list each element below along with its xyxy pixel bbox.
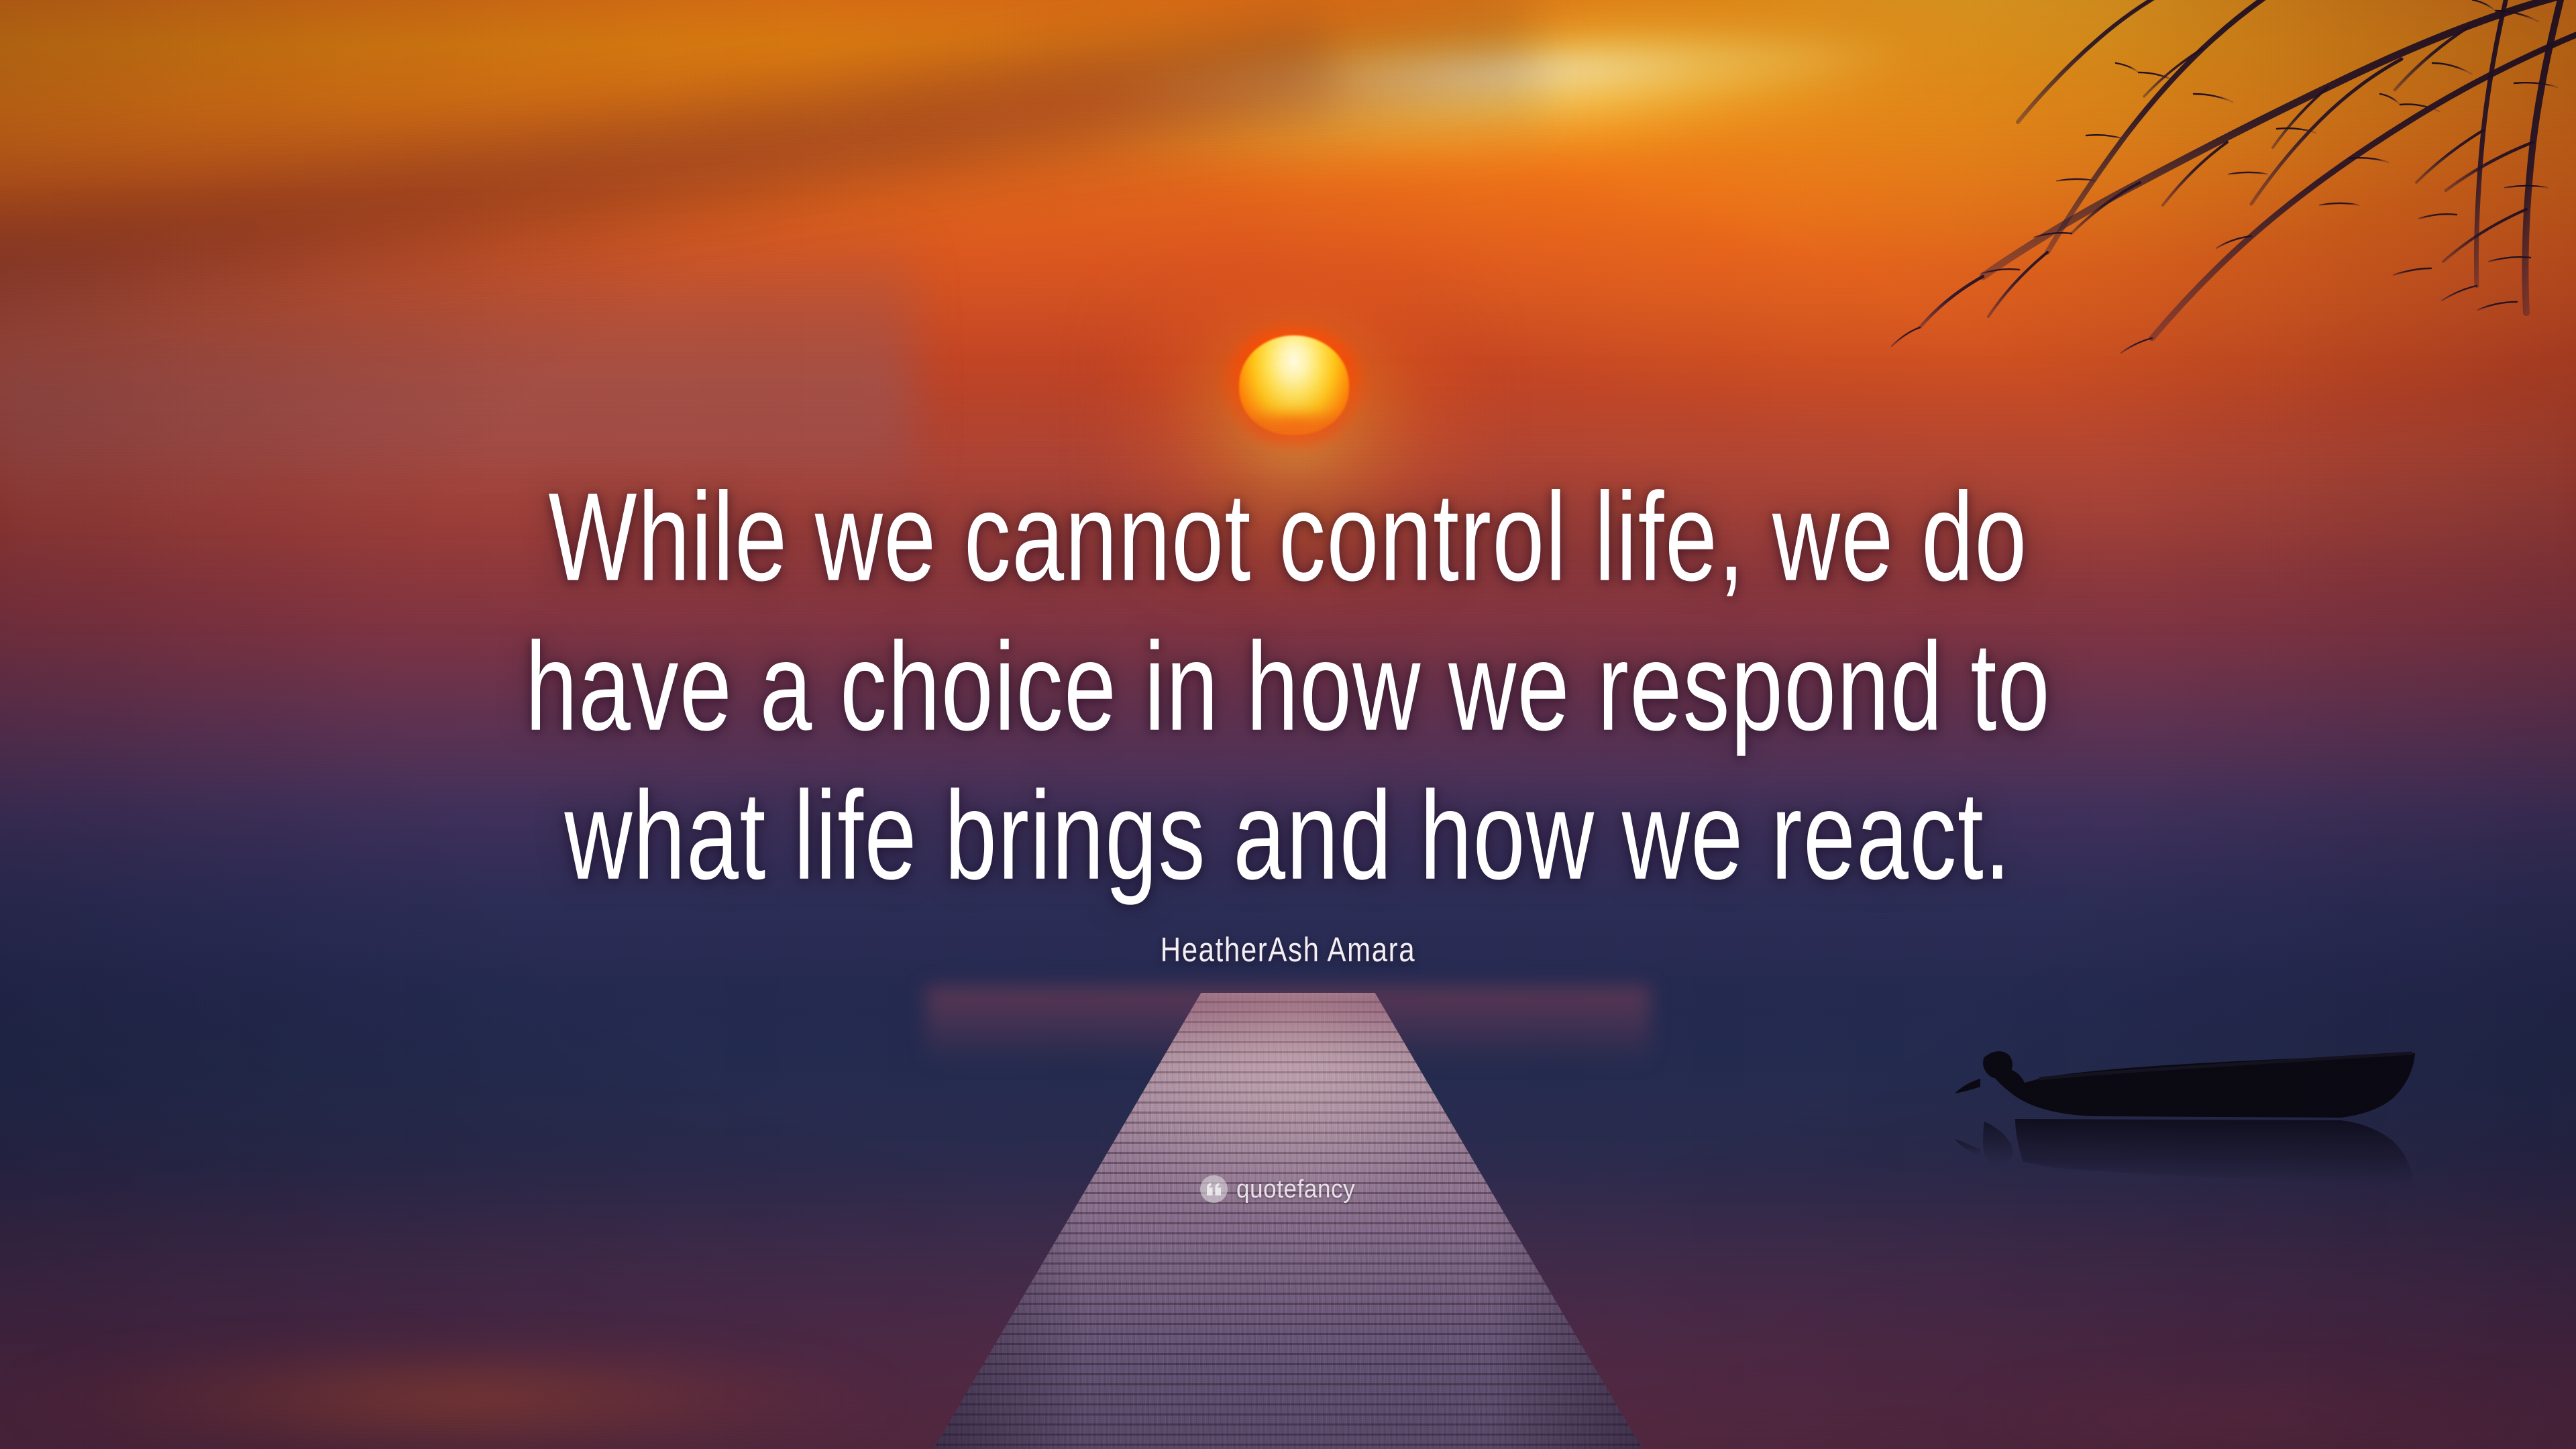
author-name: HeatherAsh Amara [1161,930,1415,970]
quote-attribution: HeatherAsh Amara [0,934,2576,966]
quote-line-3: what life brings and how we react. [237,755,2339,918]
tree-branches [1798,0,2576,429]
rowboat-silhouette [1919,1014,2428,1216]
water-glow-right [1771,1315,2576,1449]
quotefancy-watermark[interactable]: quotefancy [1200,1175,1355,1203]
pier-distance-fade [926,986,1650,1067]
quote-line-1: While we cannot control life, we do [237,456,2339,620]
water-glow-left [0,1275,1140,1449]
wallpaper-canvas: While we cannot control life, we do have… [0,0,2576,1449]
quotefancy-brand-text: quotefancy [1236,1175,1355,1203]
quote-text-block: While we cannot control life, we do have… [0,456,2576,904]
double-quote-icon [1200,1175,1228,1203]
quote-line-2: have a choice in how we respond to [237,606,2339,769]
